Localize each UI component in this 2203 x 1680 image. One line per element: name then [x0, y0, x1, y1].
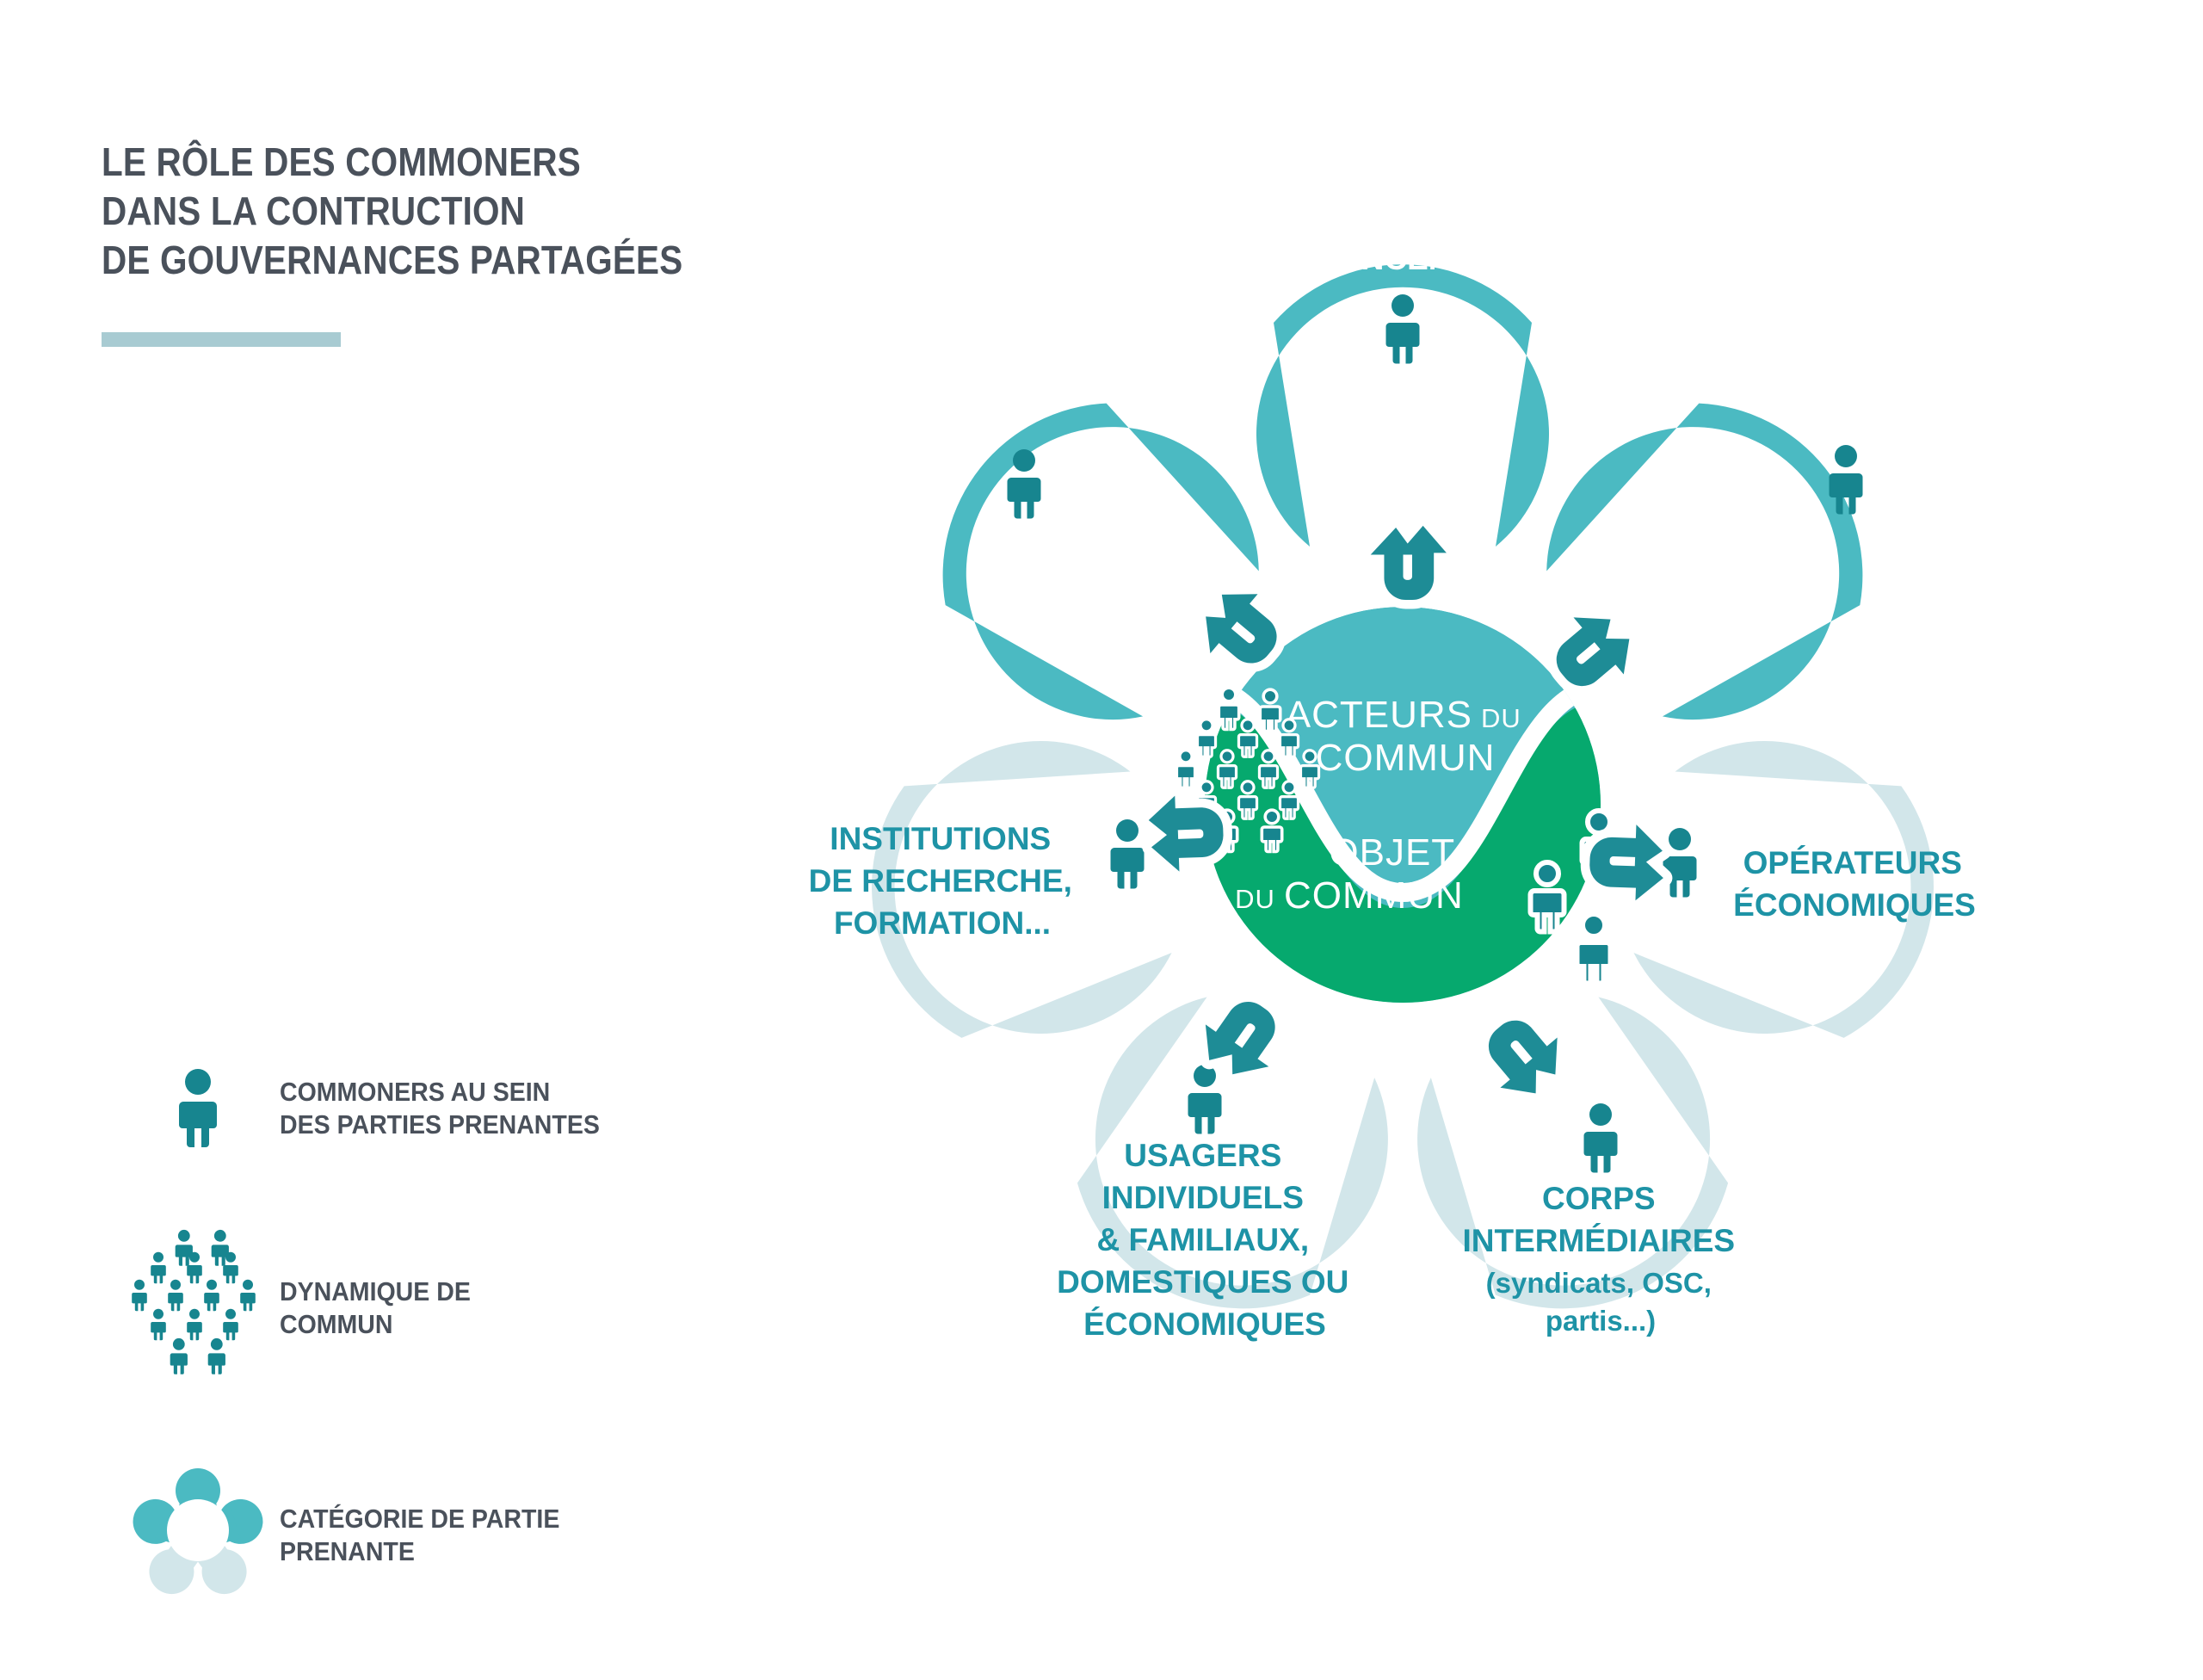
legend-line-1: DYNAMIQUE DE — [280, 1275, 471, 1308]
person-icon — [1663, 828, 1697, 898]
legend-line-2: COMMUN — [280, 1308, 471, 1341]
petal-line-2: DE RECHERCHE, — [809, 863, 1072, 899]
petal-label: POUVOIRS PUBLICS DÉCONCENTRÉS — [1269, 157, 1536, 276]
hub-objet-commun: COMMUN — [1284, 874, 1464, 917]
legend-item-label: CATÉGORIE DE PARTIE PRENANTE — [280, 1503, 559, 1569]
petal-line-3: CENTRAUX — [1757, 377, 1935, 412]
petal-line-1: CORPS — [1542, 1181, 1656, 1216]
hub-label-acteurs: ACTEURSDU COMMUN — [1286, 694, 1525, 779]
petal-line-2: LOCALES — [888, 354, 1040, 389]
petal-pouvoirs-publics-deconcentres[interactable]: POUVOIRS PUBLICS DÉCONCENTRÉS — [1256, 157, 1549, 547]
petal-line-1: INSTITUTIONS — [830, 821, 1051, 856]
title-line-2: DANS LA CONTRUCTION — [102, 187, 677, 236]
legend-line-1: COMMONERS AU SEIN — [280, 1076, 600, 1109]
legend-line-2: DES PARTIES PRENANTES — [280, 1109, 600, 1141]
single-person-icon — [116, 1067, 280, 1150]
petal-label: OPÉRATEURS ÉCONOMIQUES — [1733, 845, 1976, 923]
petal-subline-2: partis...) — [1546, 1305, 1656, 1337]
stakeholder-flower-diagram: POUVOIRS PUBLICS DÉCONCENTRÉS MINISTÈRES… — [637, 47, 2169, 1562]
person-icon — [1111, 819, 1145, 889]
petal-line-3: & FAMILIAUX, — [1096, 1222, 1309, 1257]
petal-label: USAGERS INDIVIDUELS & FAMILIAUX, DOMESTI… — [1057, 1138, 1353, 1342]
legend-item-label: COMMONERS AU SEIN DES PARTIES PRENANTES — [280, 1076, 600, 1142]
petal-line-1: USAGERS — [1124, 1138, 1281, 1173]
petal-operateurs-economiques[interactable]: OPÉRATEURS ÉCONOMIQUES — [1622, 720, 1976, 1067]
petal-line-2: ÉCONOMIQUES — [1733, 887, 1976, 923]
person-icon — [1386, 294, 1420, 364]
petal-line-1: POUVOIRS — [1317, 157, 1484, 192]
petal-line-5: ÉCONOMIQUES — [1083, 1306, 1326, 1342]
petal-line-2: PUBLICS — [1331, 199, 1471, 234]
petal-subline-1: (syndicats, OSC, — [1486, 1267, 1712, 1299]
title-line-3: DE GOUVERNANCES PARTAGÉES — [102, 236, 677, 285]
petal-line-2: INTERMÉDIAIRES — [1462, 1223, 1735, 1258]
person-icon — [1188, 1065, 1222, 1134]
petal-line-3: DÉCONCENTRÉS — [1269, 241, 1536, 276]
petal-line-4: DOMESTIQUES OU — [1057, 1264, 1348, 1300]
petal-label: MINISTÈRES ET POUVOIRS PUBLICS CENTRAUX — [1686, 293, 2006, 412]
legend-item-label: DYNAMIQUE DE COMMUN — [280, 1275, 471, 1342]
hub-objet-word: OBJET — [1329, 831, 1455, 874]
crowd-of-people-icon — [116, 1226, 280, 1391]
petal-line-2: POUVOIRS PUBLICS — [1686, 335, 2002, 370]
title-underline-rule — [102, 332, 341, 347]
petal-line-2: INDIVIDUELS — [1102, 1180, 1304, 1215]
petal-label: INSTITUTIONS DE RECHERCHE, FORMATION... — [809, 821, 1077, 941]
legend-line-2: PRENANTE — [280, 1535, 559, 1568]
petal-institutions-recherche-formation[interactable]: INSTITUTIONS DE RECHERCHE, FORMATION... — [809, 720, 1184, 1067]
petal-line-3: FORMATION... — [834, 905, 1051, 941]
petal-label: COLLECTIVITÉS LOCALES — [836, 312, 1091, 389]
petal-line-1: OPÉRATEURS — [1743, 845, 1962, 880]
hub-acteurs-commun: COMMUN — [1316, 737, 1496, 779]
hub-acteurs-du: DU — [1481, 703, 1521, 733]
title-line-1: LE RÔLE DES COMMONERS — [102, 138, 677, 187]
petal-line-1: MINISTÈRES ET — [1722, 293, 1966, 328]
flower-petals-icon — [116, 1467, 280, 1604]
legend-line-1: CATÉGORIE DE PARTIE — [280, 1503, 559, 1535]
hub-acteurs-word: ACTEURS — [1286, 694, 1472, 736]
person-icon — [1584, 1103, 1618, 1173]
petal-line-1: COLLECTIVITÉS — [836, 312, 1088, 347]
hub-objet-du: DU — [1235, 884, 1275, 914]
